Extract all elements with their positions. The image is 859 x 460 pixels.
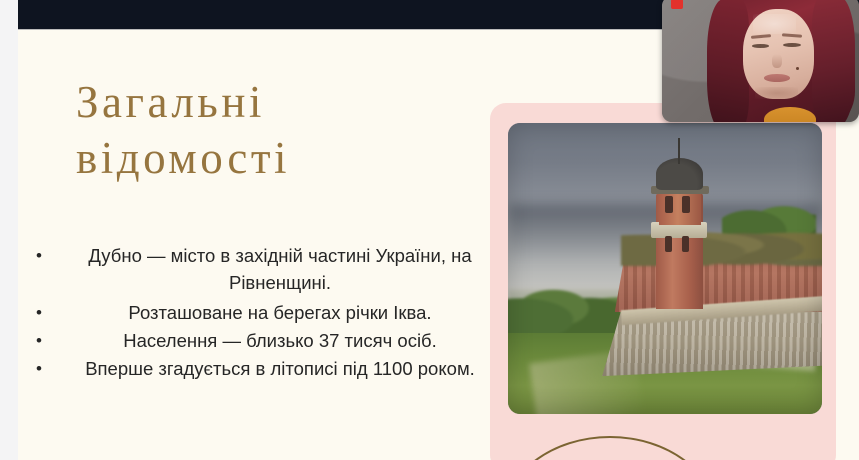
recording-indicator-icon [671, 0, 683, 9]
slide-bullet-list: Дубно — місто в західній частині України… [30, 242, 508, 383]
photo-vignette [508, 123, 822, 414]
participant-lips [764, 74, 790, 82]
participant-mole [796, 67, 799, 70]
video-call-screen: Загальні відомості Дубно — місто в захід… [0, 0, 859, 460]
list-item: Розташоване на берегах річки Іква. [30, 299, 508, 326]
list-item: Вперше згадується в літописі під 1100 ро… [30, 355, 508, 382]
participant-hair-right [812, 0, 855, 122]
castle-photo [508, 123, 822, 414]
participant-video-tile[interactable] [662, 0, 859, 122]
participant-chin-shadow [755, 87, 798, 100]
list-item: Дубно — місто в західній частині України… [30, 242, 508, 296]
participant-forehead-highlight [753, 14, 796, 34]
slide-title: Загальні відомості [76, 74, 496, 186]
participant-eye-right [783, 43, 801, 47]
app-left-gutter [0, 0, 18, 460]
participant-eye-left [752, 44, 770, 48]
list-item: Населення — близько 37 тисяч осіб. [30, 327, 508, 354]
participant-nose [772, 54, 782, 68]
